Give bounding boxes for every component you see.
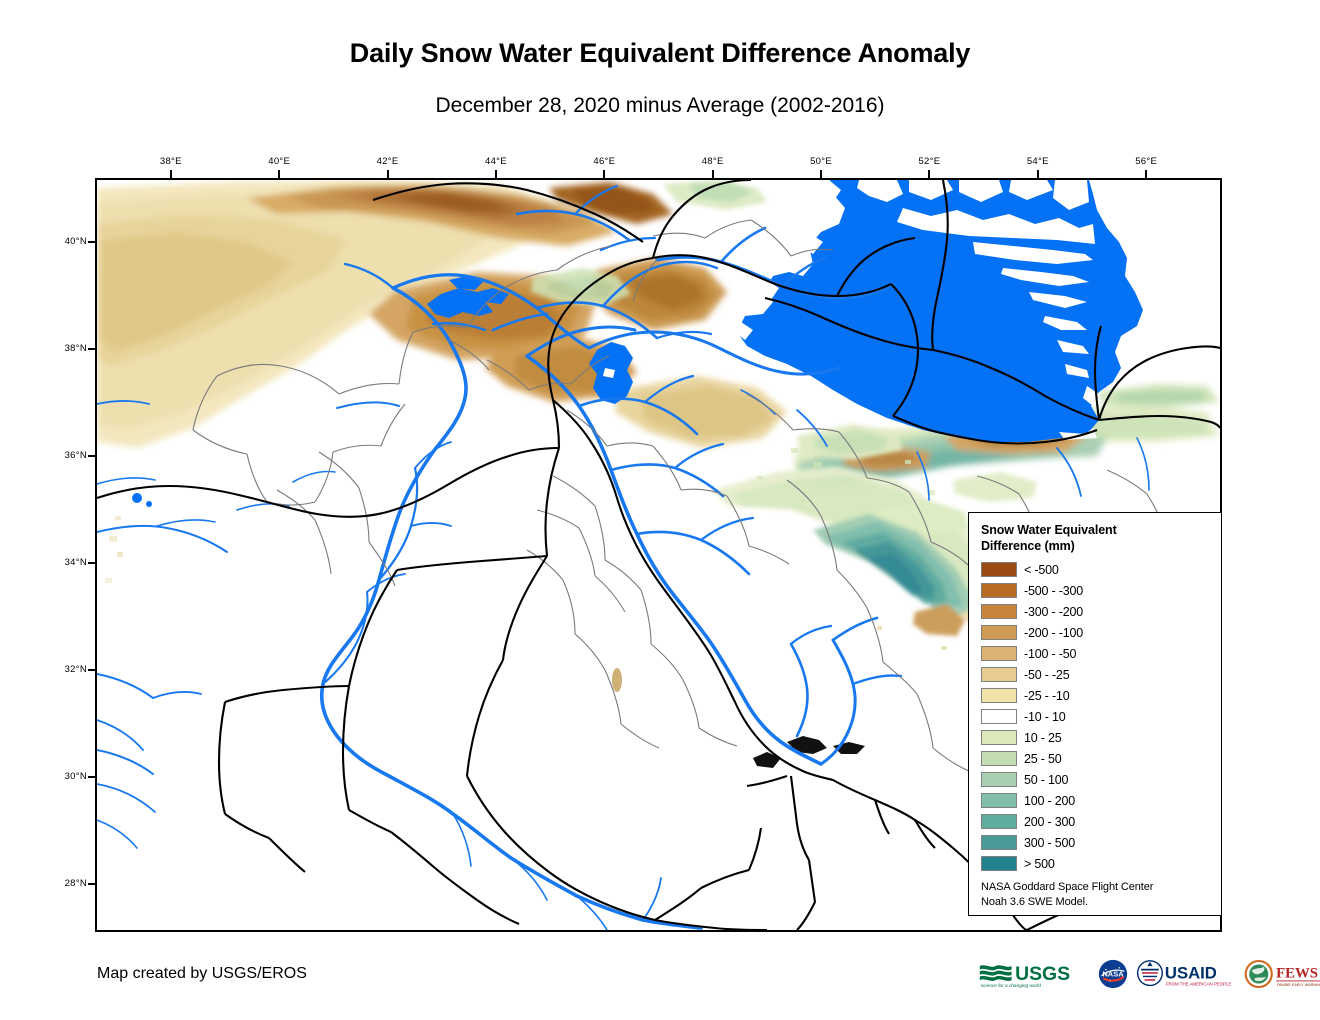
legend-label: -10 - 10 [1024,710,1065,724]
legend-swatch [981,856,1017,871]
lon-tick-label: 44°E [473,156,519,167]
lat-tick-label: 38°N [43,343,87,354]
legend-swatch [981,667,1017,682]
legend-label: 50 - 100 [1024,773,1068,787]
legend-label: 300 - 500 [1024,836,1075,850]
lon-tick-label: 38°E [148,156,194,167]
legend-swatch [981,814,1017,829]
legend-label: 200 - 300 [1024,815,1075,829]
legend-swatch [981,646,1017,661]
legend-swatch [981,583,1017,598]
legend-row: -50 - -25 [981,664,1211,685]
legend-label: -100 - -50 [1024,647,1076,661]
legend-label: -500 - -300 [1024,584,1083,598]
page-subtitle: December 28, 2020 minus Average (2002-20… [0,94,1320,118]
lon-tick-label: 50°E [798,156,844,167]
legend-swatch [981,625,1017,640]
svg-text:USAID: USAID [1165,963,1217,982]
legend-swatch [981,709,1017,724]
lon-tick-label: 52°E [906,156,952,167]
legend-row: < -500 [981,559,1211,580]
lat-tick-label: 40°N [43,236,87,247]
legend-label: 10 - 25 [1024,731,1062,745]
legend-title-line2: Difference (mm) [981,538,1211,554]
legend-row: -300 - -200 [981,601,1211,622]
legend-row: 25 - 50 [981,748,1211,769]
legend-label: 100 - 200 [1024,794,1075,808]
svg-text:FROM THE AMERICAN PEOPLE: FROM THE AMERICAN PEOPLE [1166,981,1232,986]
lon-tick-label: 56°E [1123,156,1169,167]
legend-row: > 500 [981,853,1211,874]
legend-swatch [981,751,1017,766]
legend-swatch [981,772,1017,787]
page-title: Daily Snow Water Equivalent Difference A… [0,38,1320,69]
legend-swatch [981,688,1017,703]
lat-tick-label: 36°N [43,450,87,461]
usaid-logo: USAID FROM THE AMERICAN PEOPLE [1135,959,1237,989]
map-credit: Map created by USGS/EROS [97,965,307,983]
legend-row: -25 - -10 [981,685,1211,706]
legend-row: 100 - 200 [981,790,1211,811]
legend-row: 200 - 300 [981,811,1211,832]
legend-source-note: NASA Goddard Space Flight Center Noah 3.… [981,880,1211,909]
legend-title: Snow Water Equivalent Difference (mm) [981,522,1211,554]
svg-text:NASA: NASA [1102,970,1124,979]
map-legend: Snow Water Equivalent Difference (mm) < … [968,512,1222,916]
nasa-logo: NASA [1098,959,1128,989]
lon-tick-label: 46°E [581,156,627,167]
usgs-logo: USGS science for a changing world [978,959,1091,989]
legend-label: < -500 [1024,563,1059,577]
legend-label: -50 - -25 [1024,668,1069,682]
legend-swatch [981,730,1017,745]
legend-swatch [981,793,1017,808]
legend-source-line2: Noah 3.6 SWE Model. [981,895,1211,910]
lat-tick-label: 32°N [43,664,87,675]
logo-bar: USGS science for a changing world NASA U… [978,957,1320,991]
legend-class-list: < -500-500 - -300-300 - -200-200 - -100-… [981,559,1211,874]
legend-label: -200 - -100 [1024,626,1083,640]
legend-label: 25 - 50 [1024,752,1062,766]
legend-source-line1: NASA Goddard Space Flight Center [981,880,1211,895]
legend-swatch [981,604,1017,619]
legend-label: -25 - -10 [1024,689,1069,703]
svg-text:USGS: USGS [1015,963,1070,985]
svg-text:FEWS NET: FEWS NET [1276,965,1320,981]
lat-tick-label: 28°N [43,878,87,889]
legend-row: -500 - -300 [981,580,1211,601]
lon-tick-label: 54°E [1015,156,1061,167]
legend-label: > 500 [1024,857,1055,871]
legend-row: 10 - 25 [981,727,1211,748]
legend-swatch [981,835,1017,850]
legend-row: 50 - 100 [981,769,1211,790]
lon-tick-label: 42°E [365,156,411,167]
legend-title-line1: Snow Water Equivalent [981,522,1211,538]
legend-row: -200 - -100 [981,622,1211,643]
svg-text:FAMINE EARLY WARNING SYSTEMS N: FAMINE EARLY WARNING SYSTEMS NETWORK [1277,983,1320,987]
legend-row: 300 - 500 [981,832,1211,853]
lon-tick-label: 40°E [256,156,302,167]
svg-text:science for a changing world: science for a changing world [981,983,1042,989]
lon-tick-label: 48°E [690,156,736,167]
legend-label: -300 - -200 [1024,605,1083,619]
legend-swatch [981,562,1017,577]
fewsnet-logo: FEWS NET FAMINE EARLY WARNING SYSTEMS NE… [1244,959,1320,989]
lat-tick-label: 34°N [43,557,87,568]
legend-row: -10 - 10 [981,706,1211,727]
legend-row: -100 - -50 [981,643,1211,664]
lat-tick-label: 30°N [43,771,87,782]
